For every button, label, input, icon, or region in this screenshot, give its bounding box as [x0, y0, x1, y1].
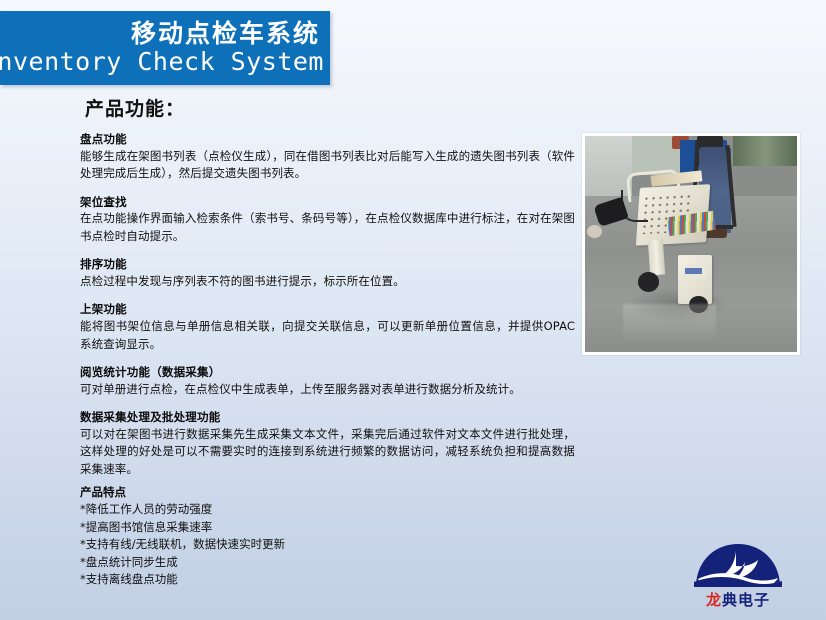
title-english: Inventory Check System	[0, 48, 324, 77]
product-photo	[585, 136, 797, 352]
slide-root: 移动点检车系统 Inventory Check System 产品功能： 盘点功…	[0, 0, 826, 620]
list-item: *降低工作人员的劳动强度	[80, 501, 500, 518]
section-title: 架位查找	[80, 194, 575, 211]
photo-cart-label-logo	[685, 268, 702, 274]
section-body: 能将图书架位信息与单册信息相关联，向提交关联信息，可以更新单册位置信息，并提供O…	[80, 318, 575, 353]
section-title: 上架功能	[80, 301, 575, 318]
photo-shelf-right	[733, 136, 797, 166]
section-item: 架位查找 在点功能操作界面输入检索条件（索书号、条码号等），在点检仪数据库中进行…	[80, 194, 575, 246]
logo-text-accent: 龙	[706, 591, 722, 609]
section-item: 上架功能 能将图书架位信息与单册信息相关联，向提交关联信息，可以更新单册位置信息…	[80, 301, 575, 353]
features-title: 产品特点	[80, 484, 500, 501]
photo-cart-wheel-rear	[638, 272, 659, 291]
photo-cart-wheel-far	[587, 225, 602, 238]
features-block: 产品特点 *降低工作人员的劳动强度 *提高图书馆信息采集速率 *支持有线/无线联…	[80, 484, 500, 589]
section-body: 可对单册进行点检，在点检仪中生成表单，上传至服务器对表单进行数据分析及统计。	[80, 381, 575, 398]
list-item: *支持离线盘点功能	[80, 571, 500, 588]
company-logo: 龙典电子	[676, 541, 800, 613]
list-item: *提高图书馆信息采集速率	[80, 519, 500, 536]
page-title: 产品功能：	[85, 94, 185, 121]
section-title: 数据采集处理及批处理功能	[80, 409, 575, 426]
section-body: 点检过程中发现与序列表不符的图书进行提示，标示所在位置。	[80, 273, 575, 290]
photo-floor-reflection	[623, 304, 716, 343]
photo-cart-column	[647, 239, 664, 274]
list-item: *支持有线/无线联机，数据快速实时更新	[80, 536, 500, 553]
section-item: 阅览统计功能（数据采集） 可对单册进行点检，在点检仪中生成表单，上传至服务器对表…	[80, 364, 575, 398]
section-title: 阅览统计功能（数据采集）	[80, 364, 575, 381]
logo-text-rest: 典电子	[722, 591, 770, 609]
section-title: 排序功能	[80, 256, 575, 273]
title-banner: 移动点检车系统 Inventory Check System	[0, 11, 330, 85]
section-item: 盘点功能 能够生成在架图书列表（点检仪生成），同在借图书列表比对后能写入生成的遗…	[80, 131, 575, 183]
logo-bird-dome-icon	[692, 541, 784, 587]
list-item: *盘点统计同步生成	[80, 554, 500, 571]
section-body: 能够生成在架图书列表（点检仪生成），同在借图书列表比对后能写入生成的遗失图书列表…	[80, 148, 575, 183]
section-item: 排序功能 点检过程中发现与序列表不符的图书进行提示，标示所在位置。	[80, 256, 575, 290]
section-title: 盘点功能	[80, 131, 575, 148]
product-photo-frame	[582, 133, 800, 355]
content-column: 盘点功能 能够生成在架图书列表（点检仪生成），同在借图书列表比对后能写入生成的遗…	[80, 131, 575, 489]
section-item: 数据采集处理及批处理功能 可以对在架图书进行数据采集先生成采集文本文件，采集完后…	[80, 409, 575, 478]
title-chinese: 移动点检车系统	[131, 20, 320, 48]
logo-text: 龙典电子	[676, 589, 800, 610]
section-body: 在点功能操作界面输入检索条件（索书号、条码号等），在点检仪数据库中进行标注，在对…	[80, 210, 575, 245]
section-body: 可以对在架图书进行数据采集先生成采集文本文件，采集完后通过软件对文本文件进行批处…	[80, 426, 575, 478]
features-list: *降低工作人员的劳动强度 *提高图书馆信息采集速率 *支持有线/无线联机，数据快…	[80, 501, 500, 588]
